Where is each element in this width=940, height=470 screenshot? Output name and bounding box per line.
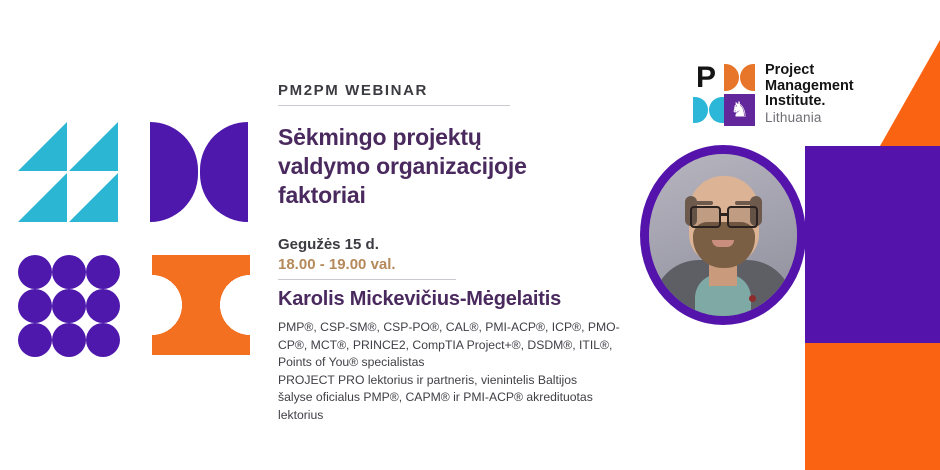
triangle-top-right (69, 122, 118, 171)
bio-line-3: lektorius (278, 407, 678, 424)
logo-line-institute: Institute. (765, 94, 854, 110)
purple-band (805, 146, 940, 343)
orange-concave-square (152, 255, 250, 355)
knight-icon: ♞ (730, 100, 749, 121)
glasses-icon (689, 206, 759, 224)
pmi-logo-text: Project Management Institute. Lithuania (765, 62, 854, 125)
speaker-divider (278, 279, 456, 280)
webinar-banner: PM2PM WEBINAR Sėkmingo projektų valdymo … (0, 0, 940, 470)
triangle-bottom-right (69, 173, 118, 222)
orange-block (805, 343, 940, 470)
avatar (640, 145, 806, 325)
headline-line-3: faktoriai (278, 181, 688, 210)
glasses-lens-left (690, 206, 721, 228)
dot (86, 255, 120, 289)
speaker-name: Karolis Mickevičius-Mėgelaitis (278, 288, 688, 311)
bio-line-1: PROJECT PRO lektorius ir partneris, vien… (278, 372, 678, 389)
dot (52, 289, 86, 323)
butterfly-wing-left-icon (724, 64, 739, 91)
letter-p-glyph: P (696, 63, 716, 93)
logo-line-project: Project (765, 63, 854, 79)
knight-emblem-tile: ♞ (724, 94, 755, 126)
purple-bowtie (150, 122, 248, 222)
text-column: PM2PM WEBINAR Sėkmingo projektų valdymo … (278, 82, 688, 423)
headline-line-1: Sėkmingo projektų (278, 123, 688, 152)
glasses-lens-right (727, 206, 758, 228)
logo-line-management: Management (765, 79, 854, 95)
bio-line-2: šalyse oficialus PMP®, CAPM® ir PMI-ACP®… (278, 389, 678, 406)
purple-dot-grid (18, 255, 118, 355)
portrait-lapel-pin (749, 295, 756, 302)
letter-p-tile: P (693, 62, 724, 94)
dot (18, 289, 52, 323)
page-title: Sėkmingo projektų valdymo organizacijoje… (278, 123, 688, 210)
pmi-logo-mark: P ♞ (693, 62, 755, 126)
credentials-line-3: Points of You® specialistas (278, 354, 678, 371)
triangle-top-left (18, 122, 67, 171)
portrait-brow-left (694, 201, 713, 205)
cyan-bowtie-tile (693, 94, 724, 126)
eyebrow-label: PM2PM WEBINAR (278, 82, 688, 99)
dot (52, 323, 86, 357)
dot (86, 289, 120, 323)
credentials-line-2: CP®, MCT®, PRINCE2, CompTIA Project+®, D… (278, 337, 678, 354)
speaker-portrait (649, 154, 797, 316)
bowtie-wing-right-icon (709, 97, 724, 123)
credentials-line-1: PMP®, CSP-SM®, CSP-PO®, CAL®, PMI-ACP®, … (278, 319, 678, 336)
dot (86, 323, 120, 357)
pmi-logo: P ♞ Project Management Institute. Lithua… (693, 62, 854, 126)
event-date: Gegužės 15 d. (278, 236, 688, 253)
headline-line-2: valdymo organizacijoje (278, 152, 688, 181)
dot (18, 323, 52, 357)
dot (18, 255, 52, 289)
triangle-bottom-left (18, 173, 67, 222)
eyebrow-divider (278, 105, 510, 106)
bowtie-half-left (150, 122, 198, 222)
orange-butterfly-tile (724, 62, 755, 94)
portrait-mouth (712, 240, 734, 247)
portrait-brow-right (735, 201, 754, 205)
speaker-credentials: PMP®, CSP-SM®, CSP-PO®, CAL®, PMI-ACP®, … (278, 319, 678, 423)
cyan-pinwheel-triangles (18, 122, 118, 222)
dot (52, 255, 86, 289)
logo-chapter: Lithuania (765, 110, 854, 126)
event-time: 18.00 - 19.00 val. (278, 256, 688, 273)
bowtie-wing-left-icon (693, 97, 708, 123)
bowtie-half-right (200, 122, 248, 222)
orange-corner-triangle (880, 40, 940, 146)
butterfly-wing-right-icon (740, 64, 755, 91)
